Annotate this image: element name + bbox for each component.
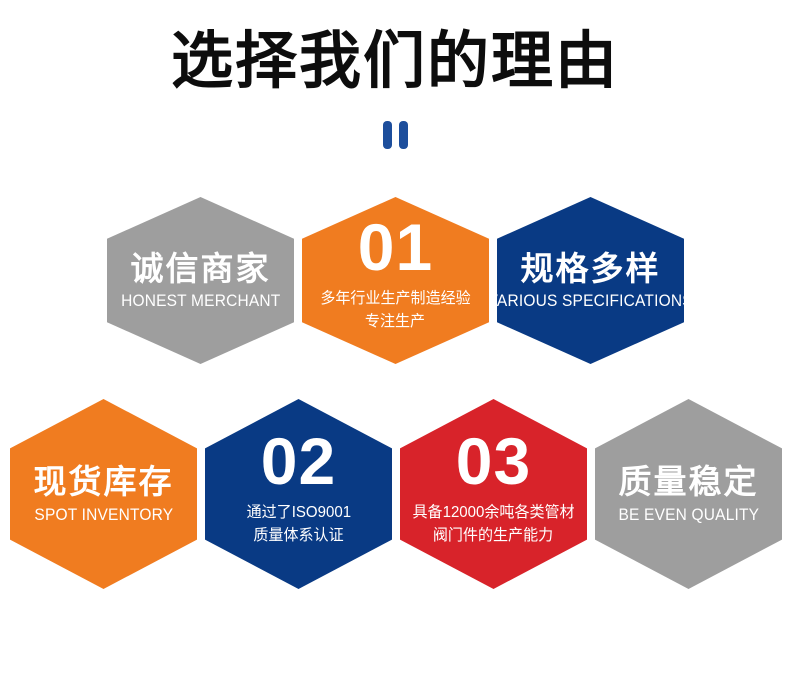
- hexagon-various-specifications[interactable]: 规格多样 VARIOUS SPECIFICATIONS: [497, 197, 684, 364]
- hexagon-desc-line-1: 通过了ISO9001: [246, 501, 350, 524]
- hexagon-number: 01: [358, 215, 433, 280]
- hexagon-number: 02: [261, 429, 336, 494]
- double-bar-divider-icon: [0, 119, 790, 151]
- divider-bar-right: [399, 121, 408, 149]
- hexagon-02-iso9001[interactable]: 02 通过了ISO9001 质量体系认证: [205, 399, 392, 589]
- hexagon-honest-merchant[interactable]: 诚信商家 HONEST MERCHANT: [107, 197, 294, 364]
- hexagon-desc-line-2: 专注生产: [365, 310, 425, 333]
- hexagon-desc-line-1: 具备12000余吨各类管材: [412, 501, 574, 524]
- hexagon-spot-inventory[interactable]: 现货库存 SPOT INVENTORY: [10, 399, 197, 589]
- hexagon-01-experience[interactable]: 01 多年行业生产制造经验 专注生产: [302, 197, 489, 364]
- why-choose-us-infographic: 选择我们的理由 诚信商家 HONEST MERCHANT 01 多年行业生产制造…: [0, 0, 790, 680]
- hexagon-en-title: HONEST MERCHANT: [121, 292, 280, 310]
- hexagon-number: 03: [456, 429, 531, 494]
- hexagon-cn-title: 诚信商家: [131, 251, 271, 287]
- hexagon-en-title: BE EVEN QUALITY: [618, 506, 759, 524]
- hexagon-cn-title: 现货库存: [34, 464, 174, 500]
- hexagon-desc-line-2: 阀门件的生产能力: [433, 524, 553, 547]
- divider-bar-left: [383, 121, 392, 149]
- hexagon-cn-title: 规格多样: [521, 251, 661, 287]
- hexagon-en-title: VARIOUS SPECIFICATIONS: [488, 292, 693, 310]
- page-title: 选择我们的理由: [0, 26, 790, 97]
- hexagon-desc-line-2: 质量体系认证: [253, 524, 343, 547]
- hexagon-desc-line-1: 多年行业生产制造经验: [320, 287, 470, 310]
- hexagon-03-capacity[interactable]: 03 具备12000余吨各类管材 阀门件的生产能力: [400, 399, 587, 589]
- hexagon-en-title: SPOT INVENTORY: [34, 506, 173, 524]
- header: 选择我们的理由: [0, 0, 790, 170]
- hexagon-even-quality[interactable]: 质量稳定 BE EVEN QUALITY: [595, 399, 782, 589]
- hexagon-cn-title: 质量稳定: [619, 464, 759, 500]
